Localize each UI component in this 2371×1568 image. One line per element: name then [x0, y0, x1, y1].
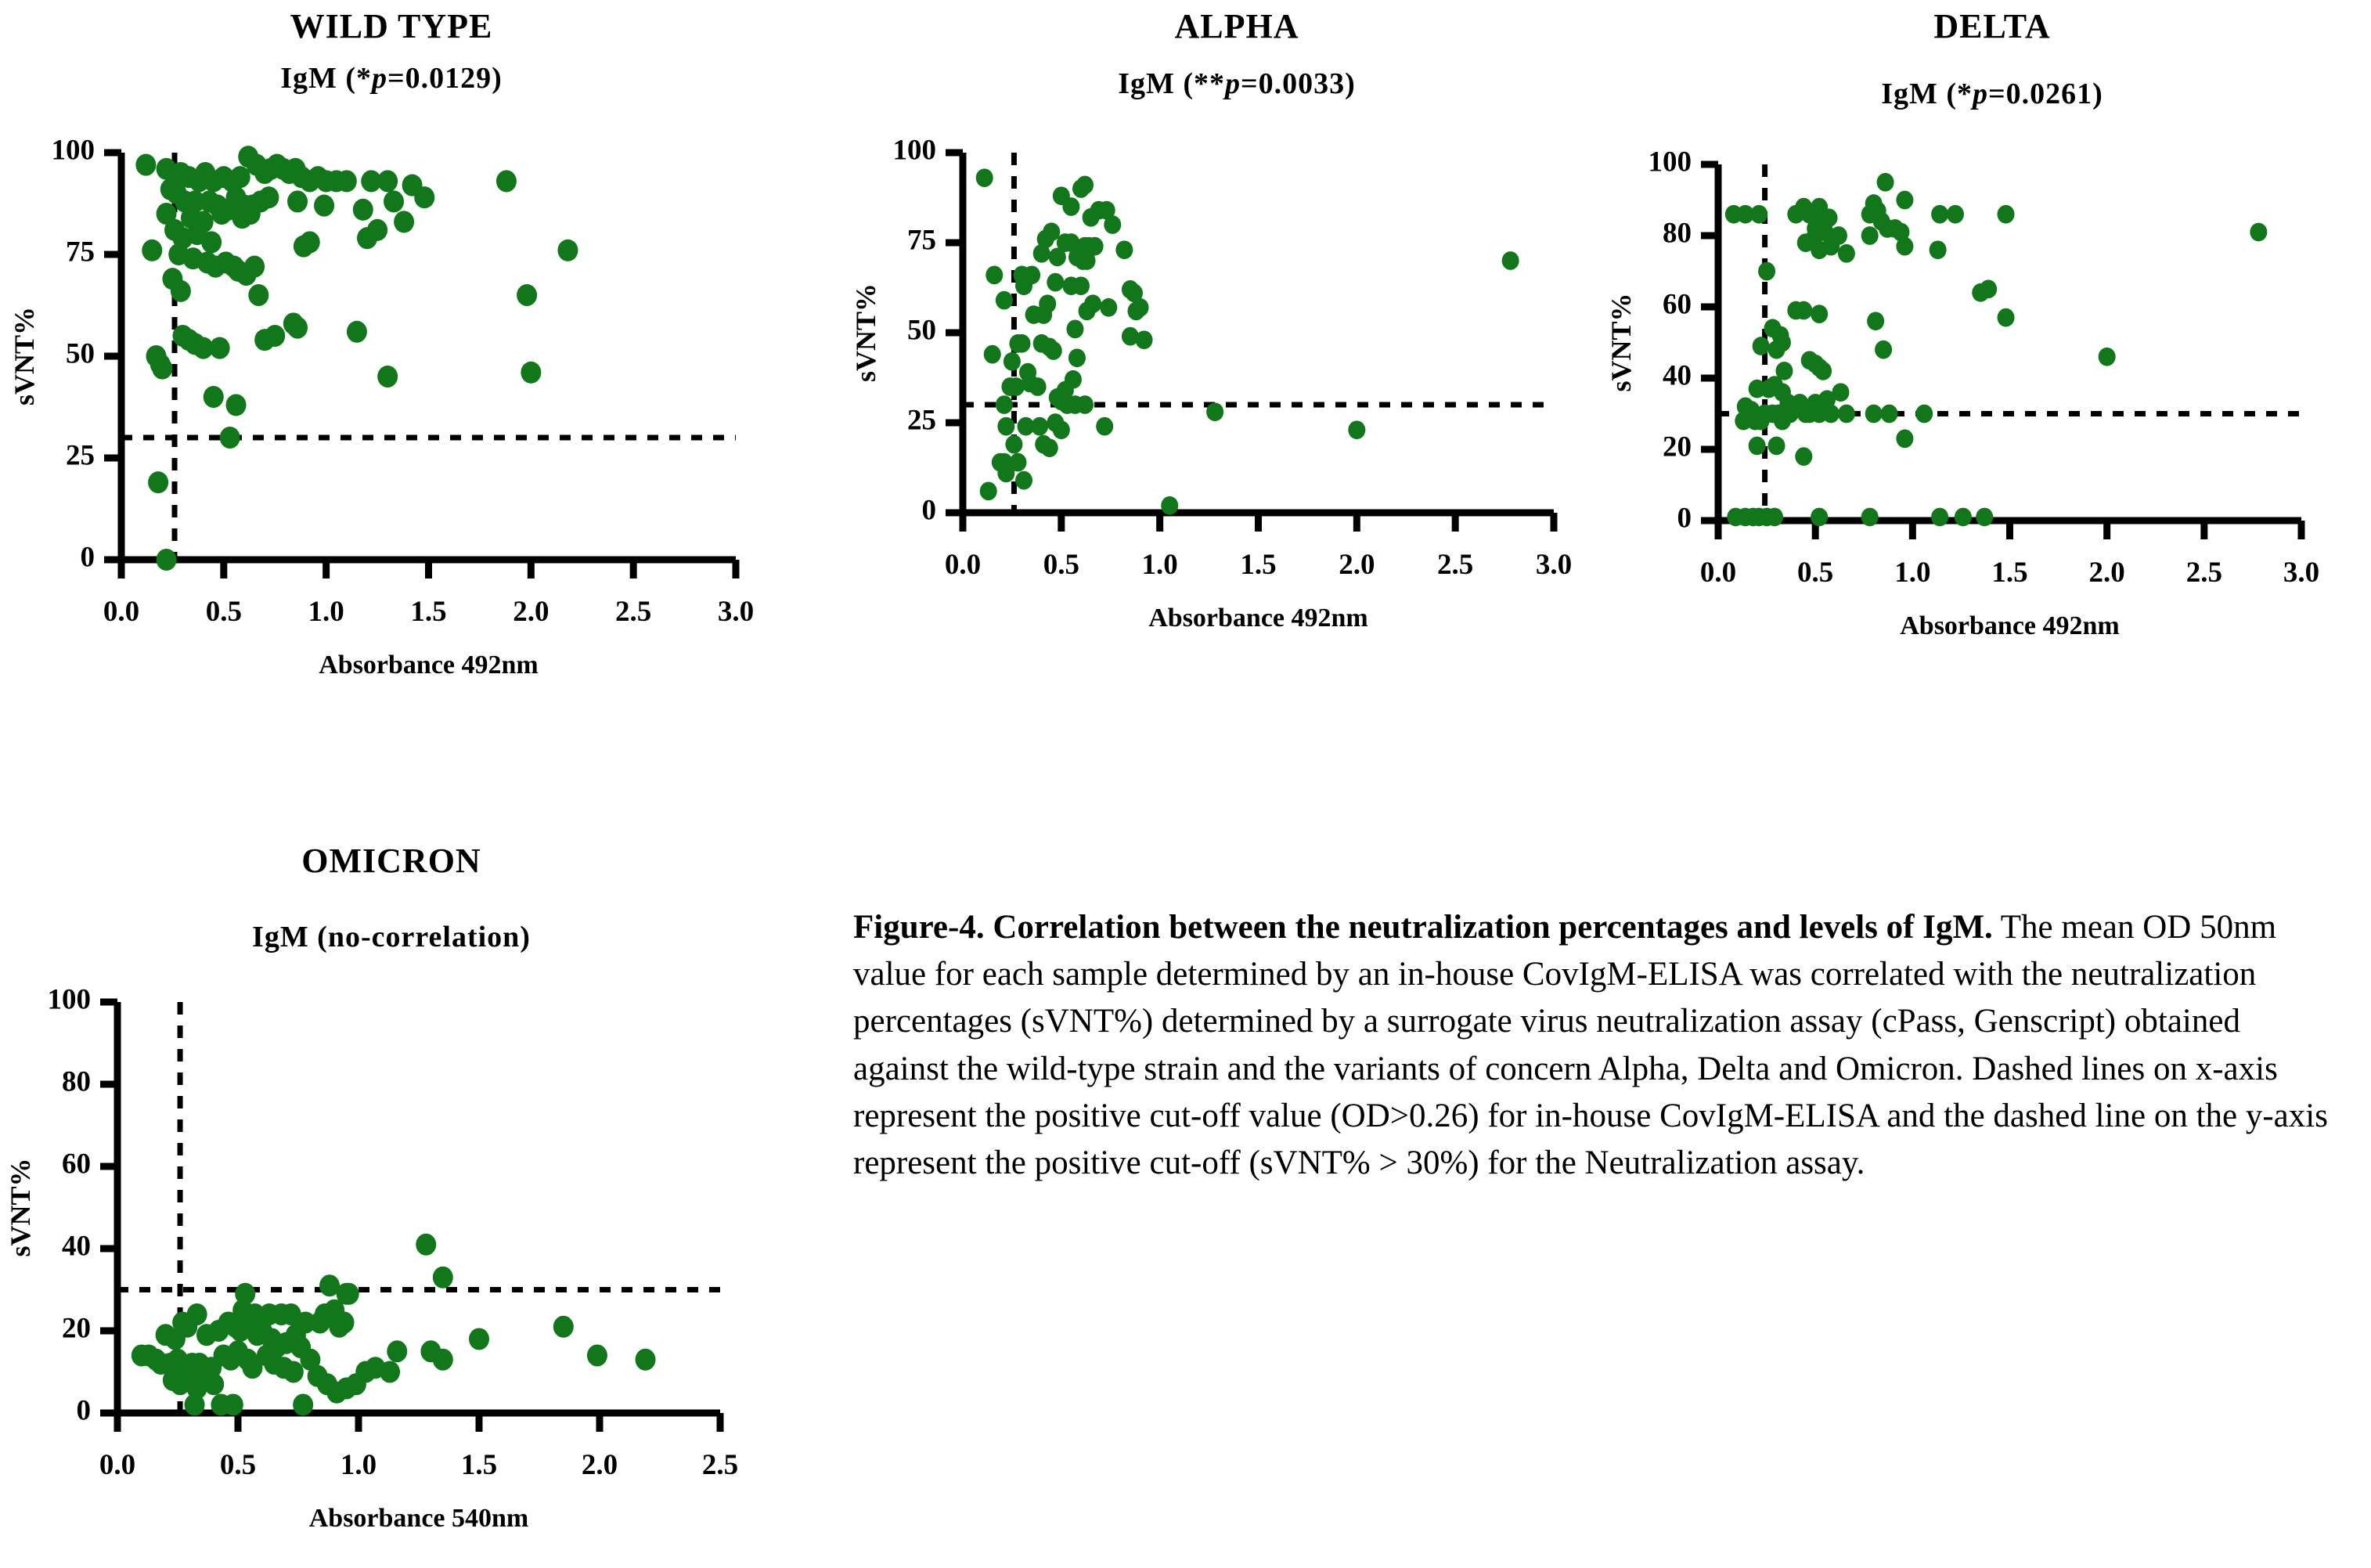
data-point	[1096, 417, 1113, 436]
data-point	[1079, 251, 1096, 270]
data-point	[1931, 508, 1948, 527]
panel-title-delta: DELTA	[1612, 6, 2371, 46]
y-tick-label: 0	[1677, 502, 1692, 534]
data-point	[377, 366, 398, 387]
data-point	[1014, 334, 1031, 353]
data-point	[142, 240, 162, 261]
data-point	[414, 186, 434, 208]
panel-omicron: OMICRON IgM (no-correlation) 02040608010…	[0, 830, 783, 1566]
data-point	[1931, 205, 1948, 224]
data-point	[996, 291, 1013, 310]
x-axis-label: Absorbance 492nm	[1900, 611, 2120, 640]
data-point	[980, 482, 997, 501]
data-point	[1033, 244, 1050, 263]
data-point	[1955, 508, 1972, 527]
y-tick-label: 75	[907, 224, 936, 256]
data-point	[165, 1328, 186, 1350]
panel-delta: DELTA IgM (*p=0.0261) 0204060801000.00.5…	[1612, 0, 2371, 783]
data-point	[1766, 508, 1783, 527]
panel-subtitle-wild-type: IgM (*p=0.0129)	[0, 61, 783, 96]
y-tick-label: 75	[66, 236, 95, 268]
data-point	[433, 1267, 453, 1289]
x-axis-label: Absorbance 492nm	[319, 651, 539, 679]
data-point	[1029, 377, 1047, 396]
data-point	[1083, 208, 1100, 227]
subtitle-prefix: IgM (*	[1881, 77, 1973, 110]
caption-body: The mean OD 50nm value for each sample d…	[853, 909, 2328, 1181]
x-tick-label: 1.5	[410, 596, 446, 628]
data-point	[329, 1316, 349, 1338]
x-tick-label: 2.0	[2089, 557, 2125, 589]
data-point	[204, 1373, 224, 1395]
data-point	[157, 549, 177, 571]
data-point	[1896, 237, 1913, 256]
x-tick-label: 0.5	[206, 596, 242, 628]
data-point	[294, 236, 314, 258]
data-point	[553, 1316, 574, 1338]
x-tick-label: 0.5	[220, 1449, 256, 1481]
x-tick-label: 1.0	[308, 596, 344, 628]
data-point	[521, 362, 541, 384]
y-tick-label: 60	[1663, 288, 1692, 320]
data-point	[1161, 496, 1178, 515]
data-point	[1881, 405, 1898, 424]
data-point	[1053, 420, 1070, 439]
subtitle-italic-p: p	[1225, 67, 1241, 100]
y-tick-label: 100	[893, 134, 937, 166]
y-tick-label: 50	[66, 337, 95, 369]
data-point	[394, 211, 414, 232]
panel-subtitle-omicron: IgM (no-correlation)	[0, 920, 783, 954]
y-tick-label: 40	[62, 1230, 91, 1262]
scatter-plot-alpha: 02550751000.00.51.01.52.02.53.0Absorbanc…	[845, 117, 1628, 697]
subtitle-suffix: =0.0261)	[1988, 77, 2103, 110]
x-axis-label: Absorbance 492nm	[1148, 604, 1368, 633]
data-point	[244, 256, 265, 278]
data-point	[337, 170, 357, 192]
data-point	[384, 190, 404, 212]
data-point	[1896, 429, 1913, 448]
data-point	[347, 321, 367, 343]
data-point	[1750, 205, 1767, 224]
y-tick-label: 80	[62, 1065, 91, 1098]
data-point	[1814, 362, 1832, 380]
panel-title-wild-type: WILD TYPE	[0, 6, 783, 46]
data-point	[1795, 301, 1812, 320]
data-point	[1502, 251, 1519, 270]
data-point	[1947, 205, 1964, 224]
data-point	[1007, 377, 1025, 396]
data-point	[1753, 412, 1770, 431]
data-point	[1774, 412, 1791, 431]
data-point	[1079, 302, 1096, 321]
data-point	[1100, 298, 1117, 317]
data-point	[2250, 223, 2267, 242]
data-point	[1795, 447, 1812, 466]
x-tick-label: 0.0	[103, 596, 139, 628]
data-point	[1041, 438, 1058, 457]
data-point	[1072, 276, 1090, 295]
data-point	[1838, 244, 1855, 263]
data-point	[1865, 405, 1883, 424]
data-point	[1811, 240, 1828, 259]
data-point	[1072, 179, 1090, 198]
data-point	[171, 280, 191, 302]
data-point	[210, 337, 230, 359]
y-tick-label: 20	[62, 1312, 91, 1344]
data-point	[1062, 197, 1079, 216]
data-point	[2099, 348, 2116, 366]
x-tick-label: 2.5	[615, 596, 651, 628]
y-tick-label: 100	[48, 983, 92, 1015]
data-point	[1047, 273, 1064, 292]
y-tick-label: 60	[62, 1148, 91, 1180]
panel-title-omicron: OMICRON	[0, 841, 783, 881]
subtitle-prefix: IgM (**	[1118, 67, 1225, 100]
x-tick-label: 2.0	[513, 596, 549, 628]
data-point	[258, 186, 279, 208]
y-tick-label: 100	[1649, 146, 1692, 178]
y-tick-label: 0	[81, 541, 95, 573]
data-point	[310, 1311, 330, 1333]
data-point	[293, 1393, 313, 1415]
data-point	[353, 199, 373, 221]
data-point	[976, 168, 993, 187]
data-point	[1877, 173, 1894, 192]
scatter-plot-delta: 0204060801000.00.51.01.52.02.53.0Absorba…	[1612, 129, 2371, 708]
subtitle-prefix: IgM (*	[280, 62, 372, 95]
data-point	[1068, 348, 1086, 367]
x-tick-label: 1.5	[461, 1449, 497, 1481]
data-point	[1031, 417, 1048, 436]
data-point	[1811, 305, 1828, 323]
y-tick-label: 100	[52, 134, 95, 166]
data-point	[1768, 437, 1785, 456]
data-point	[1015, 471, 1032, 490]
figure-caption: Figure-4. Correlation between the neutra…	[853, 904, 2340, 1187]
data-point	[377, 170, 398, 192]
data-point	[380, 1361, 400, 1382]
data-point	[1861, 226, 1879, 245]
data-point	[1896, 191, 1913, 210]
data-point	[986, 266, 1003, 285]
y-tick-label: 40	[1663, 359, 1692, 391]
data-point	[557, 240, 578, 261]
data-point	[283, 1361, 304, 1382]
x-tick-label: 0.0	[1700, 557, 1736, 589]
x-tick-label: 1.5	[1240, 549, 1276, 581]
y-axis-label: sVNT%	[1605, 293, 1637, 391]
x-tick-label: 2.5	[702, 1449, 738, 1481]
data-point	[211, 203, 232, 225]
data-point	[433, 1349, 453, 1371]
data-point	[1749, 437, 1766, 456]
data-point	[287, 190, 308, 212]
data-point	[357, 227, 377, 249]
panel-subtitle-alpha: IgM (**p=0.0033)	[845, 67, 1628, 101]
scatter-plot-omicron: 0204060801000.00.51.01.52.02.5Absorbance…	[0, 971, 783, 1566]
data-point	[1004, 352, 1021, 371]
data-point	[152, 358, 172, 380]
y-axis-label: sVNT%	[850, 283, 881, 382]
data-point	[1980, 279, 1997, 298]
data-point	[1348, 420, 1365, 439]
data-point	[517, 284, 537, 306]
y-axis-label: sVNT%	[5, 1158, 36, 1256]
y-tick-label: 0	[77, 1394, 92, 1426]
subtitle-prefix: IgM (no-correlation)	[252, 921, 531, 953]
scatter-plot-wild-type: 02550751000.00.51.01.52.02.53.0Absorbanc…	[0, 110, 783, 705]
panel-subtitle-delta: IgM (*p=0.0261)	[1612, 77, 2371, 111]
data-point	[1127, 302, 1144, 321]
subtitle-italic-p: p	[372, 62, 387, 95]
x-tick-label: 1.0	[1142, 549, 1178, 581]
data-point	[997, 464, 1014, 483]
data-point	[185, 1393, 205, 1415]
data-point	[1875, 341, 1892, 359]
data-point	[469, 1328, 489, 1350]
data-point	[1206, 402, 1223, 421]
data-point	[636, 1349, 656, 1371]
data-point	[254, 329, 275, 351]
y-tick-label: 25	[907, 404, 936, 436]
data-point	[1861, 508, 1879, 527]
panel-alpha: ALPHA IgM (**p=0.0033) 02550751000.00.51…	[845, 0, 1628, 783]
data-point	[1045, 341, 1062, 360]
y-tick-label: 25	[66, 439, 95, 471]
data-point	[1066, 320, 1083, 339]
data-point	[1811, 508, 1828, 527]
data-point	[226, 394, 247, 416]
data-point	[984, 345, 1001, 364]
x-tick-label: 3.0	[718, 596, 754, 628]
subtitle-suffix: =0.0129)	[387, 62, 503, 95]
data-point	[287, 317, 308, 339]
data-point	[314, 195, 334, 217]
data-point	[997, 417, 1014, 436]
x-tick-label: 2.5	[2186, 557, 2222, 589]
data-point	[416, 1234, 436, 1256]
data-point	[1915, 405, 1933, 424]
panel-title-alpha: ALPHA	[845, 6, 1628, 46]
data-point	[135, 154, 156, 176]
subtitle-suffix: =0.0033)	[1241, 67, 1356, 100]
data-point	[1998, 205, 2015, 224]
data-point	[1035, 305, 1052, 324]
subtitle-italic-p: p	[1973, 77, 1988, 110]
data-point	[387, 1340, 407, 1362]
x-tick-label: 2.0	[1339, 549, 1375, 581]
data-point	[1076, 395, 1094, 414]
data-point	[1049, 248, 1066, 267]
y-tick-label: 80	[1663, 217, 1692, 249]
x-tick-label: 1.5	[1991, 557, 2027, 589]
data-point	[496, 170, 517, 192]
data-point	[1104, 215, 1121, 234]
caption-bold-lead: Figure-4. Correlation between the neutra…	[853, 909, 1993, 946]
data-point	[1753, 337, 1770, 355]
data-point	[1998, 308, 2015, 327]
data-point	[1005, 435, 1022, 454]
x-tick-label: 1.0	[341, 1449, 377, 1481]
x-tick-label: 0.5	[1797, 557, 1833, 589]
data-point	[1115, 240, 1133, 259]
y-tick-label: 20	[1663, 431, 1692, 463]
data-point	[1822, 405, 1840, 424]
data-point	[1867, 312, 1884, 330]
data-point	[204, 386, 224, 408]
data-point	[1930, 240, 1947, 259]
data-point	[223, 1393, 243, 1415]
data-point	[1758, 262, 1775, 281]
x-tick-label: 2.0	[582, 1449, 618, 1481]
data-point	[1838, 405, 1855, 424]
data-point	[1136, 330, 1153, 349]
x-axis-label: Absorbance 540nm	[309, 1504, 529, 1533]
panel-wild-type: WILD TYPE IgM (*p=0.0129) 02550751000.00…	[0, 0, 783, 783]
x-tick-label: 0.0	[99, 1449, 135, 1481]
data-point	[248, 284, 268, 306]
x-tick-label: 0.5	[1043, 549, 1079, 581]
data-point	[1015, 276, 1032, 295]
data-point	[148, 471, 168, 493]
data-point	[240, 203, 261, 225]
x-tick-label: 3.0	[2283, 557, 2319, 589]
x-tick-label: 1.0	[1894, 557, 1930, 589]
data-point	[201, 231, 222, 253]
data-point	[996, 395, 1013, 414]
y-axis-label: sVNT%	[9, 307, 40, 406]
data-point	[587, 1344, 607, 1366]
x-tick-label: 2.5	[1437, 549, 1473, 581]
y-tick-label: 0	[922, 494, 937, 526]
x-tick-label: 0.0	[945, 549, 981, 581]
data-point	[1768, 341, 1785, 359]
x-tick-label: 3.0	[1536, 549, 1572, 581]
data-point	[220, 427, 240, 449]
data-point	[1976, 508, 1993, 527]
y-tick-label: 50	[907, 314, 936, 346]
